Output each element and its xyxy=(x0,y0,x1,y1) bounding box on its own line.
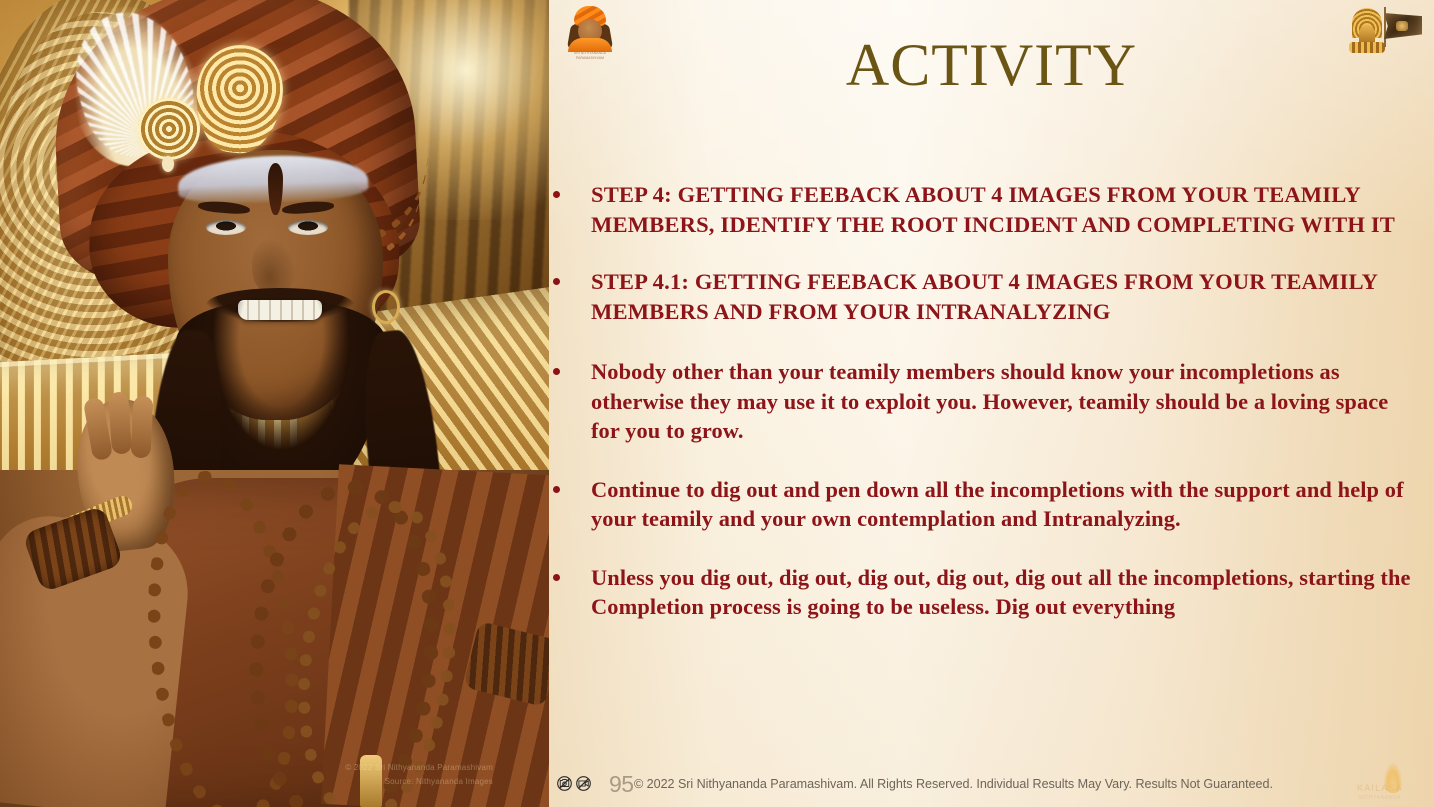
guru-portrait-logo-icon: SRI NITHYANANDA PARAMASHIVAM xyxy=(560,4,620,66)
copyright-notice: © 2022 Sri Nithyananda Paramashivam. All… xyxy=(634,776,1273,793)
list-item: STEP 4: GETTING FEEBACK ABOUT 4 IMAGES F… xyxy=(549,180,1434,239)
list-item: Unless you dig out, dig out, dig out, di… xyxy=(549,563,1434,622)
bullet-text: Continue to dig out and pen down all the… xyxy=(591,475,1420,534)
bullet-text: STEP 4: GETTING FEEBACK ABOUT 4 IMAGES F… xyxy=(591,180,1420,239)
bullet-text: Unless you dig out, dig out, dig out, di… xyxy=(591,563,1420,622)
no-photography-icon xyxy=(556,775,573,792)
kailasa-brand-watermark: KAILASA NITHYANANDA xyxy=(1334,761,1426,801)
bullet-dot-icon xyxy=(553,486,560,493)
bullet-dot-icon xyxy=(553,278,560,285)
logo-shoulders xyxy=(568,38,612,52)
restriction-icons xyxy=(556,775,592,792)
bullet-dot-icon xyxy=(553,574,560,581)
photo-background xyxy=(0,0,549,807)
flag-icon xyxy=(1378,7,1422,49)
logo-caption: SRI NITHYANANDA PARAMASHIVAM xyxy=(560,51,620,61)
guru-portrait-graphic xyxy=(566,4,614,50)
list-item: Continue to dig out and pen down all the… xyxy=(549,475,1434,534)
slide-content-panel: SRI NITHYANANDA PARAMASHIVAM ACTIVITY ST… xyxy=(549,0,1434,807)
kailasa-deity-flag-emblem-icon xyxy=(1348,4,1422,56)
turban-jewel-medallion xyxy=(138,98,200,160)
page-number: 95 xyxy=(609,769,634,799)
brand-subtitle: NITHYANANDA xyxy=(1334,795,1426,801)
golden-lamp xyxy=(360,755,382,807)
flag-pole xyxy=(1384,7,1386,47)
eye-left xyxy=(206,220,246,235)
bullet-text: STEP 4.1: GETTING FEEBACK ABOUT 4 IMAGES… xyxy=(591,267,1420,326)
earring xyxy=(372,290,400,324)
finger-2 xyxy=(108,391,132,454)
bullet-dot-icon xyxy=(553,368,560,375)
list-item: STEP 4.1: GETTING FEEBACK ABOUT 4 IMAGES… xyxy=(549,267,1434,326)
no-recording-icon xyxy=(575,775,592,792)
list-item: Nobody other than your teamily members s… xyxy=(549,357,1434,446)
bullet-list: STEP 4: GETTING FEEBACK ABOUT 4 IMAGES F… xyxy=(549,180,1434,649)
brand-name: KAILASA xyxy=(1334,783,1426,793)
guru-photograph: © 2022 Sri Nithyananda Paramashivam Sour… xyxy=(0,0,549,807)
bullet-dot-icon xyxy=(553,191,560,198)
flag-emblem xyxy=(1396,21,1408,31)
finger-3 xyxy=(130,396,153,459)
eye-right xyxy=(288,220,328,235)
logo-caption-line2: PARAMASHIVAM xyxy=(560,56,620,61)
nose xyxy=(252,238,296,294)
slide-footer: 95 © 2022 Sri Nithyananda Paramashivam. … xyxy=(549,763,1434,807)
presentation-slide: © 2022 Sri Nithyananda Paramashivam Sour… xyxy=(0,0,1434,807)
bullet-text: Nobody other than your teamily members s… xyxy=(591,357,1420,446)
page-title: ACTIVITY xyxy=(549,32,1434,98)
